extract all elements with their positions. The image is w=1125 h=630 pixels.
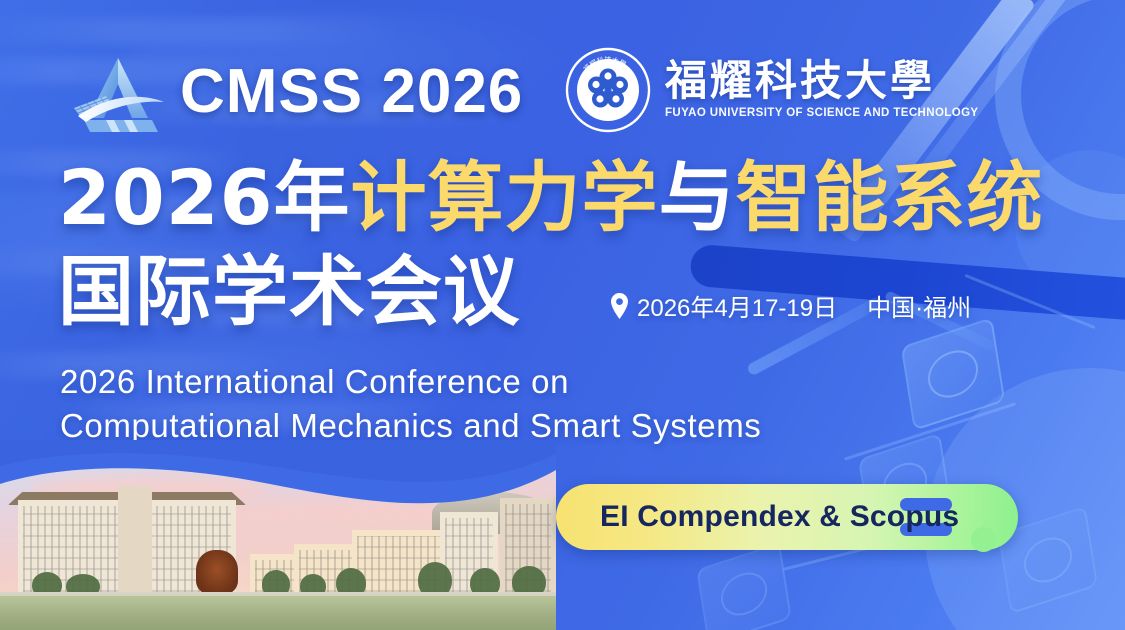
title-seg-comp-mech: 计算力学 <box>351 153 659 242</box>
main-title-cn-line1: 2026年计算力学与智能系统 <box>58 158 1044 237</box>
campus-photo-wave-mask <box>0 440 556 530</box>
university-name-group: 福耀科技大學 FUYAO UNIVERSITY OF SCIENCE AND T… <box>665 61 979 119</box>
campus-photo <box>0 440 556 630</box>
event-city: 中国·福州 <box>867 288 971 323</box>
title-seg-and: 与 <box>659 153 736 242</box>
event-meta: 2026年4月17-19日 中国·福州 <box>610 288 971 323</box>
university-name-cn: 福耀科技大學 <box>665 61 979 103</box>
title-seg-conference: 国际学术会议 <box>58 247 520 336</box>
main-title-en: 2026 International Conference on Computa… <box>60 360 761 447</box>
badge-dot-icon <box>971 527 996 552</box>
cmss-triangle-logo-icon <box>62 46 174 138</box>
campus-lawn <box>0 596 556 630</box>
title-seg-smart-systems: 智能系统 <box>736 153 1044 242</box>
main-title-en-line1: 2026 International Conference on <box>60 360 761 404</box>
conference-banner: CMSS 2026 <box>0 0 1125 630</box>
circuit-chip-4 <box>696 542 792 630</box>
circuit-chip-1 <box>901 317 1006 431</box>
campus-statue <box>196 550 238 594</box>
indexing-badge-label: EI Compendex & Scopus <box>600 484 959 550</box>
university-brand: 福耀科技大學 FUYAO UNIVERSITY OF SCIENCE AND T… <box>565 47 979 133</box>
indexing-badge: EI Compendex & Scopus <box>556 484 1018 550</box>
circuit-trace-1 <box>844 402 1016 460</box>
university-name-en: FUYAO UNIVERSITY OF SCIENCE AND TECHNOLO… <box>665 107 979 119</box>
circuit-trace-3 <box>965 274 1096 329</box>
title-seg-year: 2026年 <box>58 153 351 242</box>
event-date: 2026年4月17-19日 <box>637 288 837 323</box>
fuyao-university-seal-icon: 福耀科技大學 FUYAO UNIVERSITY OF SCIENCE AND T… <box>565 47 651 133</box>
location-pin-icon <box>610 293 629 319</box>
cmss-wordmark: CMSS 2026 <box>180 61 523 123</box>
header-brand: CMSS 2026 <box>62 46 523 138</box>
main-title-cn-line2: 国际学术会议 <box>58 252 520 331</box>
